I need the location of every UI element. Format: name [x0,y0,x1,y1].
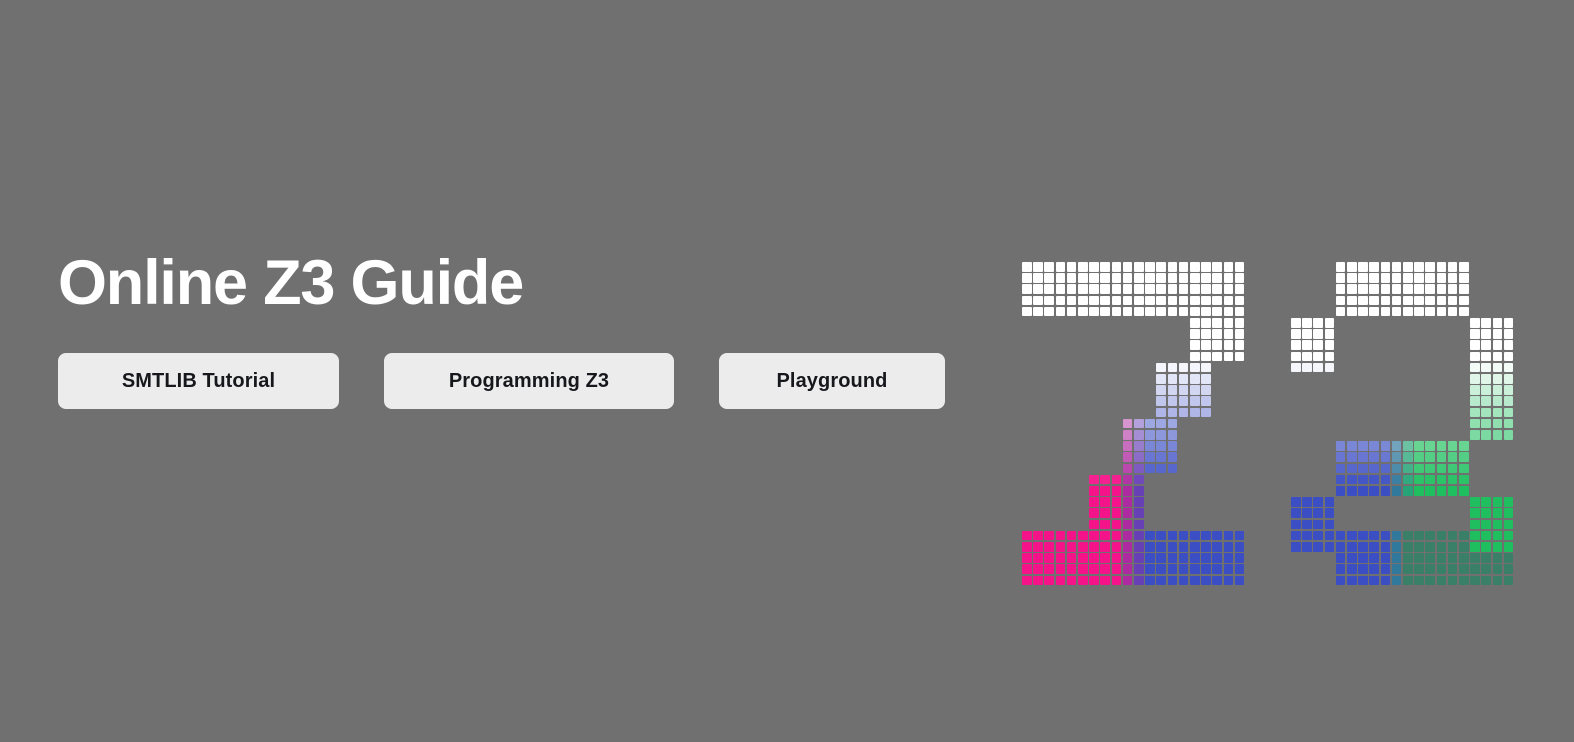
logo-pixel [1044,284,1054,294]
logo-pixel [1493,564,1503,574]
logo-pixel [1313,497,1323,507]
logo-pixel [1078,262,1088,272]
logo-pixel [1168,385,1178,395]
logo-pixel [1414,542,1424,552]
logo-pixel [1190,329,1200,339]
logo-pixel [1123,576,1133,586]
logo-pixel [1235,542,1245,552]
logo-pixel [1056,284,1066,294]
logo-pixel [1179,531,1189,541]
logo-pixel [1190,531,1200,541]
logo-pixel [1112,284,1122,294]
logo-pixel [1112,486,1122,496]
logo-pixel [1134,296,1144,306]
logo-pixel [1078,273,1088,283]
logo-pixel [1291,318,1301,328]
logo-pixel [1493,363,1503,373]
logo-pixel [1224,553,1234,563]
logo-pixel [1201,576,1211,586]
logo-pixel [1112,475,1122,485]
logo-pixel [1123,273,1133,283]
logo-pixel [1425,296,1435,306]
logo-pixel [1392,441,1402,451]
logo-pixel [1369,542,1379,552]
logo-pixel [1168,296,1178,306]
logo-pixel [1336,262,1346,272]
logo-pixel [1190,374,1200,384]
programming-z3-button[interactable]: Programming Z3 [384,353,674,409]
logo-pixel [1291,340,1301,350]
logo-pixel [1168,441,1178,451]
logo-pixel [1134,430,1144,440]
logo-pixel [1470,340,1480,350]
logo-pixel [1504,508,1514,518]
logo-pixel [1448,576,1458,586]
logo-pixel [1470,352,1480,362]
logo-pixel [1190,284,1200,294]
logo-pixel [1067,262,1077,272]
logo-pixel [1224,564,1234,574]
smtlib-tutorial-button[interactable]: SMTLIB Tutorial [58,353,339,409]
logo-pixel [1123,464,1133,474]
logo-pixel [1425,464,1435,474]
logo-pixel [1325,508,1335,518]
logo-pixel [1425,486,1435,496]
logo-pixel [1369,475,1379,485]
logo-pixel [1302,542,1312,552]
logo-pixel [1100,497,1110,507]
logo-pixel [1336,486,1346,496]
logo-pixel [1112,564,1122,574]
logo-pixel [1481,430,1491,440]
logo-pixel [1358,531,1368,541]
logo-pixel [1369,553,1379,563]
logo-pixel [1425,441,1435,451]
logo-pixel [1179,553,1189,563]
logo-pixel [1313,520,1323,530]
logo-pixel [1414,475,1424,485]
logo-pixel [1089,497,1099,507]
logo-pixel [1425,475,1435,485]
logo-pixel [1212,296,1222,306]
logo-pixel [1493,419,1503,429]
logo-pixel [1347,273,1357,283]
logo-pixel [1168,564,1178,574]
logo-pixel [1235,576,1245,586]
logo-pixel [1425,553,1435,563]
logo-pixel [1369,576,1379,586]
logo-pixel [1313,329,1323,339]
logo-pixel [1437,273,1447,283]
logo-pixel [1190,385,1200,395]
logo-pixel [1381,553,1391,563]
logo-pixel [1201,531,1211,541]
logo-pixel [1112,307,1122,317]
logo-pixel [1212,531,1222,541]
logo-pixel [1459,307,1469,317]
logo-pixel [1044,564,1054,574]
logo-pixel [1112,296,1122,306]
logo-pixel [1336,564,1346,574]
logo-pixel [1224,542,1234,552]
logo-pixel [1347,464,1357,474]
logo-pixel [1493,508,1503,518]
logo-pixel [1325,352,1335,362]
logo-pixel [1078,531,1088,541]
logo-pixel [1168,542,1178,552]
logo-pixel [1168,273,1178,283]
logo-pixel [1145,419,1155,429]
logo-pixel [1381,542,1391,552]
logo-pixel [1481,576,1491,586]
logo-pixel [1123,262,1133,272]
logo-pixel [1212,284,1222,294]
logo-pixel [1403,284,1413,294]
logo-pixel [1459,553,1469,563]
logo-pixel [1347,452,1357,462]
logo-pixel [1156,564,1166,574]
logo-pixel [1470,374,1480,384]
logo-pixel [1168,307,1178,317]
logo-pixel [1369,262,1379,272]
logo-pixel [1235,284,1245,294]
logo-pixel [1201,396,1211,406]
logo-pixel [1392,262,1402,272]
logo-pixel [1291,531,1301,541]
logo-pixel [1089,542,1099,552]
logo-pixel [1325,363,1335,373]
logo-pixel [1504,430,1514,440]
logo-pixel [1201,374,1211,384]
logo-pixel [1022,564,1032,574]
logo-pixel [1112,508,1122,518]
logo-pixel [1291,329,1301,339]
logo-pixel [1201,542,1211,552]
logo-pixel [1022,296,1032,306]
logo-pixel [1056,296,1066,306]
logo-pixel [1100,284,1110,294]
logo-pixel [1134,486,1144,496]
logo-pixel [1022,307,1032,317]
logo-pixel [1134,564,1144,574]
logo-pixel [1134,553,1144,563]
logo-pixel [1067,296,1077,306]
logo-pixel [1134,576,1144,586]
logo-pixel [1392,564,1402,574]
logo-pixel [1078,553,1088,563]
logo-pixel [1078,576,1088,586]
logo-pixel [1190,352,1200,362]
logo-pixel [1168,430,1178,440]
logo-pixel [1112,262,1122,272]
logo-pixel [1504,385,1514,395]
logo-pixel [1403,564,1413,574]
logo-pixel [1179,408,1189,418]
logo-pixel [1089,553,1099,563]
logo-pixel [1179,262,1189,272]
logo-pixel [1033,576,1043,586]
logo-pixel [1504,363,1514,373]
logo-pixel [1056,307,1066,317]
logo-pixel [1168,531,1178,541]
logo-pixel [1089,296,1099,306]
logo-pixel [1437,464,1447,474]
logo-pixel [1358,441,1368,451]
logo-pixel [1100,262,1110,272]
logo-pixel [1291,520,1301,530]
logo-pixel [1123,553,1133,563]
logo-pixel [1044,307,1054,317]
logo-pixel [1235,553,1245,563]
logo-pixel [1347,284,1357,294]
logo-pixel [1437,576,1447,586]
logo-pixel [1381,441,1391,451]
logo-pixel [1134,284,1144,294]
logo-pixel [1100,486,1110,496]
logo-pixel [1448,486,1458,496]
logo-pixel [1179,374,1189,384]
logo-pixel [1067,273,1077,283]
logo-pixel [1459,262,1469,272]
logo-pixel [1145,464,1155,474]
logo-pixel [1481,520,1491,530]
logo-pixel [1156,374,1166,384]
logo-pixel [1504,352,1514,362]
logo-pixel [1414,307,1424,317]
logo-pixel [1235,307,1245,317]
logo-pixel [1481,396,1491,406]
logo-pixel [1168,262,1178,272]
logo-pixel [1425,284,1435,294]
logo-pixel [1145,576,1155,586]
logo-pixel [1033,284,1043,294]
logo-pixel [1100,307,1110,317]
logo-pixel [1156,430,1166,440]
logo-pixel [1145,284,1155,294]
logo-pixel [1100,564,1110,574]
logo-pixel [1190,296,1200,306]
logo-pixel [1493,329,1503,339]
logo-pixel [1033,542,1043,552]
logo-pixel [1437,262,1447,272]
logo-pixel [1481,497,1491,507]
logo-pixel [1123,284,1133,294]
logo-pixel [1325,531,1335,541]
logo-pixel [1369,452,1379,462]
logo-pixel [1437,452,1447,462]
logo-pixel [1381,564,1391,574]
logo-pixel [1067,284,1077,294]
logo-pixel [1448,307,1458,317]
logo-pixel [1313,531,1323,541]
logo-pixel [1100,273,1110,283]
logo-pixel [1381,486,1391,496]
logo-pixel [1156,441,1166,451]
logo-pixel [1022,531,1032,541]
logo-pixel [1168,464,1178,474]
logo-pixel [1358,576,1368,586]
logo-pixel [1235,296,1245,306]
logo-pixel [1504,419,1514,429]
logo-pixel [1392,284,1402,294]
logo-pixel [1481,352,1491,362]
logo-pixel [1056,564,1066,574]
logo-pixel [1022,284,1032,294]
logo-pixel [1056,531,1066,541]
logo-pixel [1504,408,1514,418]
logo-pixel [1392,464,1402,474]
logo-pixel [1168,419,1178,429]
logo-pixel [1123,419,1133,429]
logo-pixel [1078,284,1088,294]
logo-pixel [1459,531,1469,541]
logo-pixel [1224,284,1234,294]
logo-pixel [1201,296,1211,306]
logo-pixel [1470,542,1480,552]
logo-pixel [1381,475,1391,485]
logo-pixel [1347,307,1357,317]
logo-pixel [1336,273,1346,283]
logo-pixel [1112,520,1122,530]
logo-pixel [1156,542,1166,552]
logo-pixel [1212,307,1222,317]
logo-pixel [1481,363,1491,373]
logo-pixel [1358,262,1368,272]
logo-glyph-3 [1291,262,1515,587]
logo-pixel [1448,284,1458,294]
logo-pixel [1201,385,1211,395]
logo-pixel [1448,441,1458,451]
logo-pixel [1067,564,1077,574]
logo-pixel [1156,307,1166,317]
logo-pixel [1381,273,1391,283]
logo-pixel [1325,542,1335,552]
logo-pixel [1123,475,1133,485]
logo-pixel [1403,553,1413,563]
logo-pixel [1235,273,1245,283]
logo-pixel [1425,576,1435,586]
logo-pixel [1291,497,1301,507]
logo-pixel [1448,464,1458,474]
logo-pixel [1504,576,1514,586]
logo-pixel [1201,318,1211,328]
logo-pixel [1448,542,1458,552]
logo-pixel [1291,508,1301,518]
logo-pixel [1056,262,1066,272]
logo-pixel [1392,576,1402,586]
logo-pixel [1044,576,1054,586]
logo-pixel [1123,564,1133,574]
logo-pixel [1100,542,1110,552]
logo-pixel [1235,329,1245,339]
logo-pixel [1078,564,1088,574]
logo-pixel [1414,262,1424,272]
logo-pixel [1302,520,1312,530]
logo-pixel [1504,340,1514,350]
logo-pixel [1336,531,1346,541]
logo-pixel [1403,273,1413,283]
logo-pixel [1134,542,1144,552]
logo-pixel [1145,441,1155,451]
logo-pixel [1470,553,1480,563]
logo-pixel [1134,531,1144,541]
logo-pixel [1493,531,1503,541]
logo-pixel [1224,329,1234,339]
logo-pixel [1414,576,1424,586]
logo-pixel [1168,363,1178,373]
logo-pixel [1493,542,1503,552]
logo-pixel [1089,486,1099,496]
logo-pixel [1470,564,1480,574]
logo-pixel [1470,497,1480,507]
logo-pixel [1459,464,1469,474]
logo-pixel [1336,307,1346,317]
logo-pixel [1134,419,1144,429]
logo-pixel [1145,564,1155,574]
logo-pixel [1112,553,1122,563]
logo-pixel [1123,520,1133,530]
logo-pixel [1190,542,1200,552]
logo-pixel [1112,273,1122,283]
logo-pixel [1156,464,1166,474]
logo-pixel [1134,497,1144,507]
logo-pixel [1459,486,1469,496]
logo-pixel [1089,307,1099,317]
logo-pixel [1302,363,1312,373]
logo-pixel [1156,296,1166,306]
logo-pixel [1481,385,1491,395]
logo-pixel [1190,273,1200,283]
logo-pixel [1493,340,1503,350]
logo-pixel [1089,564,1099,574]
logo-pixel [1145,542,1155,552]
logo-pixel [1336,296,1346,306]
logo-pixel [1470,385,1480,395]
logo-pixel [1033,307,1043,317]
logo-pixel [1156,553,1166,563]
logo-pixel [1448,475,1458,485]
logo-pixel [1313,363,1323,373]
logo-pixel [1179,576,1189,586]
logo-pixel [1168,452,1178,462]
logo-pixel [1089,576,1099,586]
logo-pixel [1347,576,1357,586]
logo-pixel [1123,452,1133,462]
logo-pixel [1291,352,1301,362]
logo-pixel [1235,262,1245,272]
logo-pixel [1156,396,1166,406]
logo-pixel [1123,486,1133,496]
logo-pixel [1459,284,1469,294]
logo-pixel [1179,307,1189,317]
logo-pixel [1067,576,1077,586]
logo-pixel [1414,296,1424,306]
logo-pixel [1392,296,1402,306]
logo-pixel [1470,520,1480,530]
logo-pixel [1033,296,1043,306]
logo-pixel [1437,296,1447,306]
logo-pixel [1190,318,1200,328]
logo-pixel [1145,296,1155,306]
playground-button[interactable]: Playground [719,353,945,409]
logo-pixel [1336,464,1346,474]
logo-pixel [1156,452,1166,462]
logo-pixel [1156,385,1166,395]
logo-pixel [1504,564,1514,574]
logo-pixel [1414,564,1424,574]
logo-pixel [1336,576,1346,586]
logo-pixel [1414,441,1424,451]
